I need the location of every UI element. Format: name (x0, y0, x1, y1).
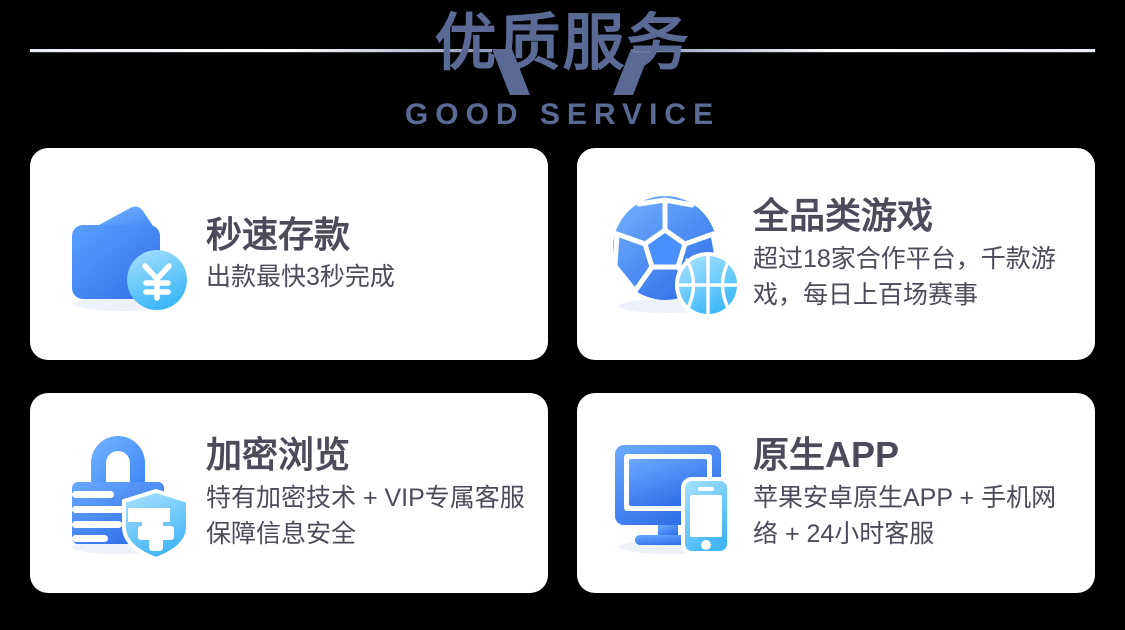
soccer-basketball-icon (605, 184, 745, 324)
wallet-coin-icon (58, 184, 198, 324)
card-text-block: 秒速存款 出款最快3秒完成 (206, 214, 532, 294)
monitor-phone-icon (605, 423, 745, 563)
card-title: 原生APP (753, 434, 1079, 475)
card-text-block: 加密浏览 特有加密技术 + VIP专属客服保障信息安全 (206, 434, 532, 552)
card-description: 特有加密技术 + VIP专属客服保障信息安全 (206, 481, 532, 552)
feature-card-deposit[interactable]: 秒速存款 出款最快3秒完成 (30, 148, 548, 360)
feature-card-grid: 秒速存款 出款最快3秒完成 (30, 148, 1095, 593)
page-subtitle: GOOD SERVICE (0, 98, 1125, 132)
feature-card-games[interactable]: 全品类游戏 超过18家合作平台，千款游戏，每日上百场赛事 (577, 148, 1095, 360)
card-title: 加密浏览 (206, 434, 532, 475)
page-title: 优质服务 (0, 8, 1125, 79)
card-title: 全品类游戏 (753, 195, 1079, 236)
card-description: 出款最快3秒完成 (206, 261, 532, 294)
feature-card-native-app[interactable]: 原生APP 苹果安卓原生APP + 手机网络 + 24小时客服 (577, 393, 1095, 593)
card-text-block: 全品类游戏 超过18家合作平台，千款游戏，每日上百场赛事 (753, 195, 1079, 313)
page-header: 优质服务 GOOD SERVICE (0, 0, 1125, 145)
lock-shield-icon (58, 423, 198, 563)
card-title: 秒速存款 (206, 214, 532, 255)
card-description: 苹果安卓原生APP + 手机网络 + 24小时客服 (753, 481, 1079, 552)
card-description: 超过18家合作平台，千款游戏，每日上百场赛事 (753, 242, 1079, 313)
card-text-block: 原生APP 苹果安卓原生APP + 手机网络 + 24小时客服 (753, 434, 1079, 552)
feature-card-encryption[interactable]: 加密浏览 特有加密技术 + VIP专属客服保障信息安全 (30, 393, 548, 593)
